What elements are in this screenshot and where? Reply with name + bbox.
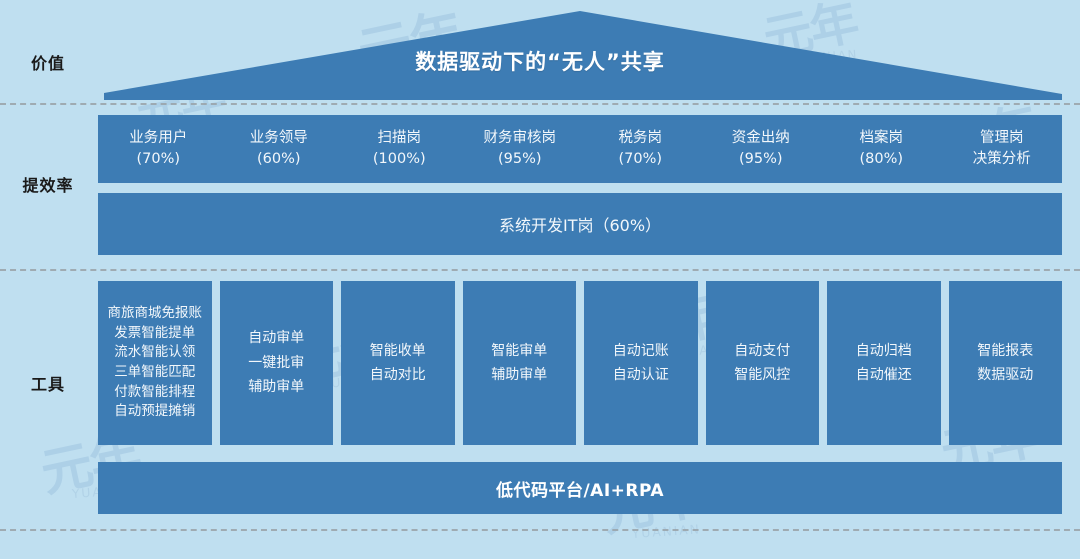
tool-card[interactable]: 智能收单 自动对比	[341, 281, 455, 445]
tool-line: 自动认证	[613, 363, 669, 388]
role-cell[interactable]: 资金出纳 (95%)	[701, 128, 822, 170]
role-percent: (70%)	[98, 149, 219, 170]
tool-line: 自动审单	[248, 326, 304, 351]
role-name: 扫描岗	[339, 128, 460, 149]
tool-line: 自动预提摊销	[114, 402, 195, 422]
tool-line: 辅助审单	[491, 363, 547, 388]
tool-line: 智能审单	[491, 339, 547, 364]
tool-line: 发票智能提单	[114, 324, 195, 344]
row-label-tools: 工具	[0, 371, 96, 395]
role-percent: (80%)	[821, 149, 942, 170]
watermark-sub: YUANIAN	[631, 522, 706, 541]
tool-line: 自动支付	[734, 339, 790, 364]
role-name: 业务用户	[98, 128, 219, 149]
role-name: 档案岗	[821, 128, 942, 149]
platform-label: 低代码平台/AI+RPA	[496, 476, 664, 501]
tool-line: 辅助审单	[248, 375, 304, 400]
tool-line: 智能报表	[977, 339, 1033, 364]
tool-line: 一键批审	[248, 351, 304, 376]
role-cell[interactable]: 扫描岗 (100%)	[339, 128, 460, 170]
diagram-canvas: 元年 YUANIAN 元年 YUANIAN 元年 YUANIAN 元年 YUAN…	[0, 0, 1080, 559]
role-name: 业务领导	[219, 128, 340, 149]
role-cell[interactable]: 档案岗 (80%)	[821, 128, 942, 170]
it-role-bar[interactable]: 系统开发IT岗（60%）	[98, 193, 1062, 255]
separator-efficiency-tools	[0, 269, 1080, 271]
role-percent: (70%)	[580, 149, 701, 170]
tool-line: 自动催还	[856, 363, 912, 388]
role-name: 资金出纳	[701, 128, 822, 149]
role-percent: (95%)	[460, 149, 581, 170]
role-cell[interactable]: 财务审核岗 (95%)	[460, 128, 581, 170]
tool-line: 自动对比	[370, 363, 426, 388]
role-percent: (60%)	[219, 149, 340, 170]
role-cell[interactable]: 管理岗 决策分析	[942, 128, 1063, 170]
tools-row: 商旅商城免报账 发票智能提单 流水智能认领 三单智能匹配 付款智能排程 自动预提…	[98, 281, 1062, 445]
role-cell[interactable]: 业务用户 (70%)	[98, 128, 219, 170]
role-name: 管理岗	[942, 128, 1063, 149]
tool-card[interactable]: 自动审单 一键批审 辅助审单	[220, 281, 334, 445]
roles-bar: 业务用户 (70%) 业务领导 (60%) 扫描岗 (100%) 财务审核岗 (…	[98, 115, 1062, 183]
role-percent: 决策分析	[942, 149, 1063, 170]
tool-line: 三单智能匹配	[114, 363, 195, 383]
role-percent: (100%)	[339, 149, 460, 170]
it-role-label: 系统开发IT岗（60%）	[499, 212, 661, 236]
tool-line: 付款智能排程	[114, 383, 195, 403]
value-pediment: 数据驱动下的“无人”共享	[0, 0, 1080, 110]
separator-bottom	[0, 529, 1080, 531]
platform-bar[interactable]: 低代码平台/AI+RPA	[98, 462, 1062, 514]
tool-card[interactable]: 智能审单 辅助审单	[463, 281, 577, 445]
role-cell[interactable]: 业务领导 (60%)	[219, 128, 340, 170]
role-name: 税务岗	[580, 128, 701, 149]
role-percent: (95%)	[701, 149, 822, 170]
page-title: 数据驱动下的“无人”共享	[0, 46, 1080, 76]
tool-line: 智能风控	[734, 363, 790, 388]
tool-card[interactable]: 自动记账 自动认证	[584, 281, 698, 445]
tool-line: 商旅商城免报账	[108, 304, 203, 324]
separator-value-efficiency	[0, 103, 1080, 105]
tool-card[interactable]: 自动归档 自动催还	[827, 281, 941, 445]
tool-card[interactable]: 商旅商城免报账 发票智能提单 流水智能认领 三单智能匹配 付款智能排程 自动预提…	[98, 281, 212, 445]
row-label-efficiency: 提效率	[0, 172, 96, 196]
tool-line: 自动记账	[613, 339, 669, 364]
role-name: 财务审核岗	[460, 128, 581, 149]
tool-line: 智能收单	[370, 339, 426, 364]
tool-card[interactable]: 自动支付 智能风控	[706, 281, 820, 445]
tool-line: 自动归档	[856, 339, 912, 364]
role-cell[interactable]: 税务岗 (70%)	[580, 128, 701, 170]
tool-line: 数据驱动	[977, 363, 1033, 388]
tool-card[interactable]: 智能报表 数据驱动	[949, 281, 1063, 445]
tool-line: 流水智能认领	[114, 343, 195, 363]
